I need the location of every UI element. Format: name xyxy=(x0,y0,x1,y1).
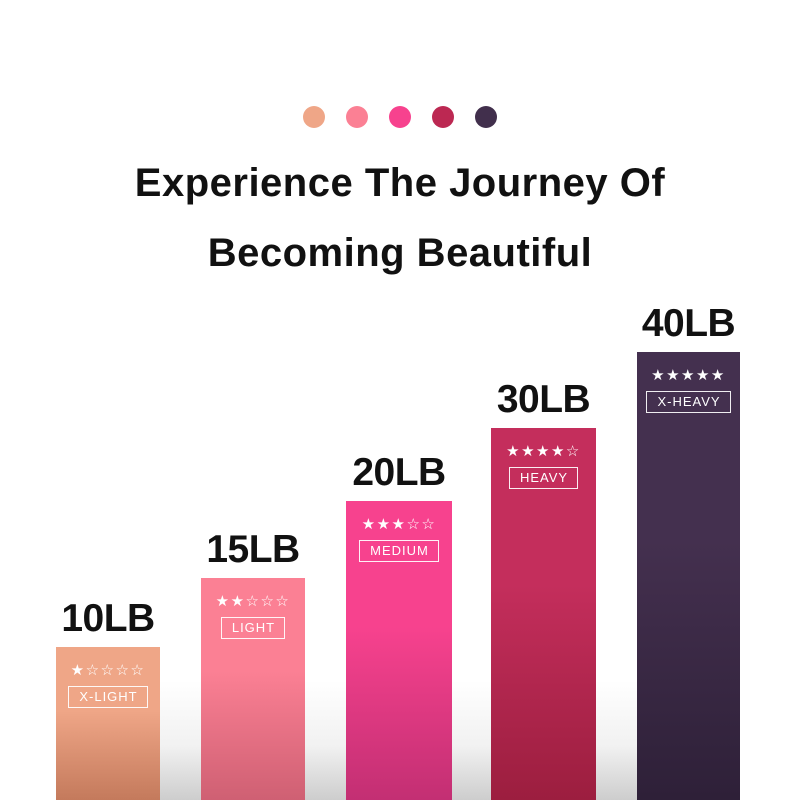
resistance-level-badge: LIGHT xyxy=(221,617,285,639)
star-rating-icon: ★★☆☆☆ xyxy=(216,594,291,609)
bar-value-label: 15LB xyxy=(206,528,299,572)
bar-value-label: 40LB xyxy=(642,302,735,346)
resistance-level-badge: X-HEAVY xyxy=(646,391,730,413)
star-rating-icon: ★★★★☆ xyxy=(506,444,581,459)
bar-gap-shadow xyxy=(452,680,491,800)
bar-value-label: 10LB xyxy=(61,597,154,641)
bar-fill: ★★☆☆☆LIGHT xyxy=(201,578,305,800)
bar-value-label: 20LB xyxy=(352,451,445,495)
bar-group-30lb[interactable]: 30LB★★★★☆HEAVY xyxy=(491,428,596,800)
bar-group-10lb[interactable]: 10LB★☆☆☆☆X-LIGHT xyxy=(56,647,160,800)
resistance-band-bar-chart: 10LB★☆☆☆☆X-LIGHT15LB★★☆☆☆LIGHT20LB★★★☆☆M… xyxy=(0,0,800,800)
bar-gap-shadow xyxy=(305,680,346,800)
bar-gap-shadow xyxy=(160,680,201,800)
bar-gap-shadow xyxy=(596,680,637,800)
bar-group-20lb[interactable]: 20LB★★★☆☆MEDIUM xyxy=(346,501,452,800)
resistance-level-badge: HEAVY xyxy=(509,467,578,489)
star-rating-icon: ★★★☆☆ xyxy=(362,517,437,532)
star-rating-icon: ★★★★★ xyxy=(651,368,726,383)
bar-fill: ★★★☆☆MEDIUM xyxy=(346,501,452,800)
star-rating-icon: ★☆☆☆☆ xyxy=(71,663,146,678)
product-infographic: Experience The Journey Of Becoming Beaut… xyxy=(0,0,800,800)
bar-group-15lb[interactable]: 15LB★★☆☆☆LIGHT xyxy=(201,578,305,800)
bar-value-label: 30LB xyxy=(497,378,590,422)
resistance-level-badge: MEDIUM xyxy=(359,540,439,562)
bar-fill: ★☆☆☆☆X-LIGHT xyxy=(56,647,160,800)
bar-fill: ★★★★★X-HEAVY xyxy=(637,352,740,800)
bar-fill: ★★★★☆HEAVY xyxy=(491,428,596,800)
bar-group-40lb[interactable]: 40LB★★★★★X-HEAVY xyxy=(637,352,740,800)
resistance-level-badge: X-LIGHT xyxy=(68,686,147,708)
